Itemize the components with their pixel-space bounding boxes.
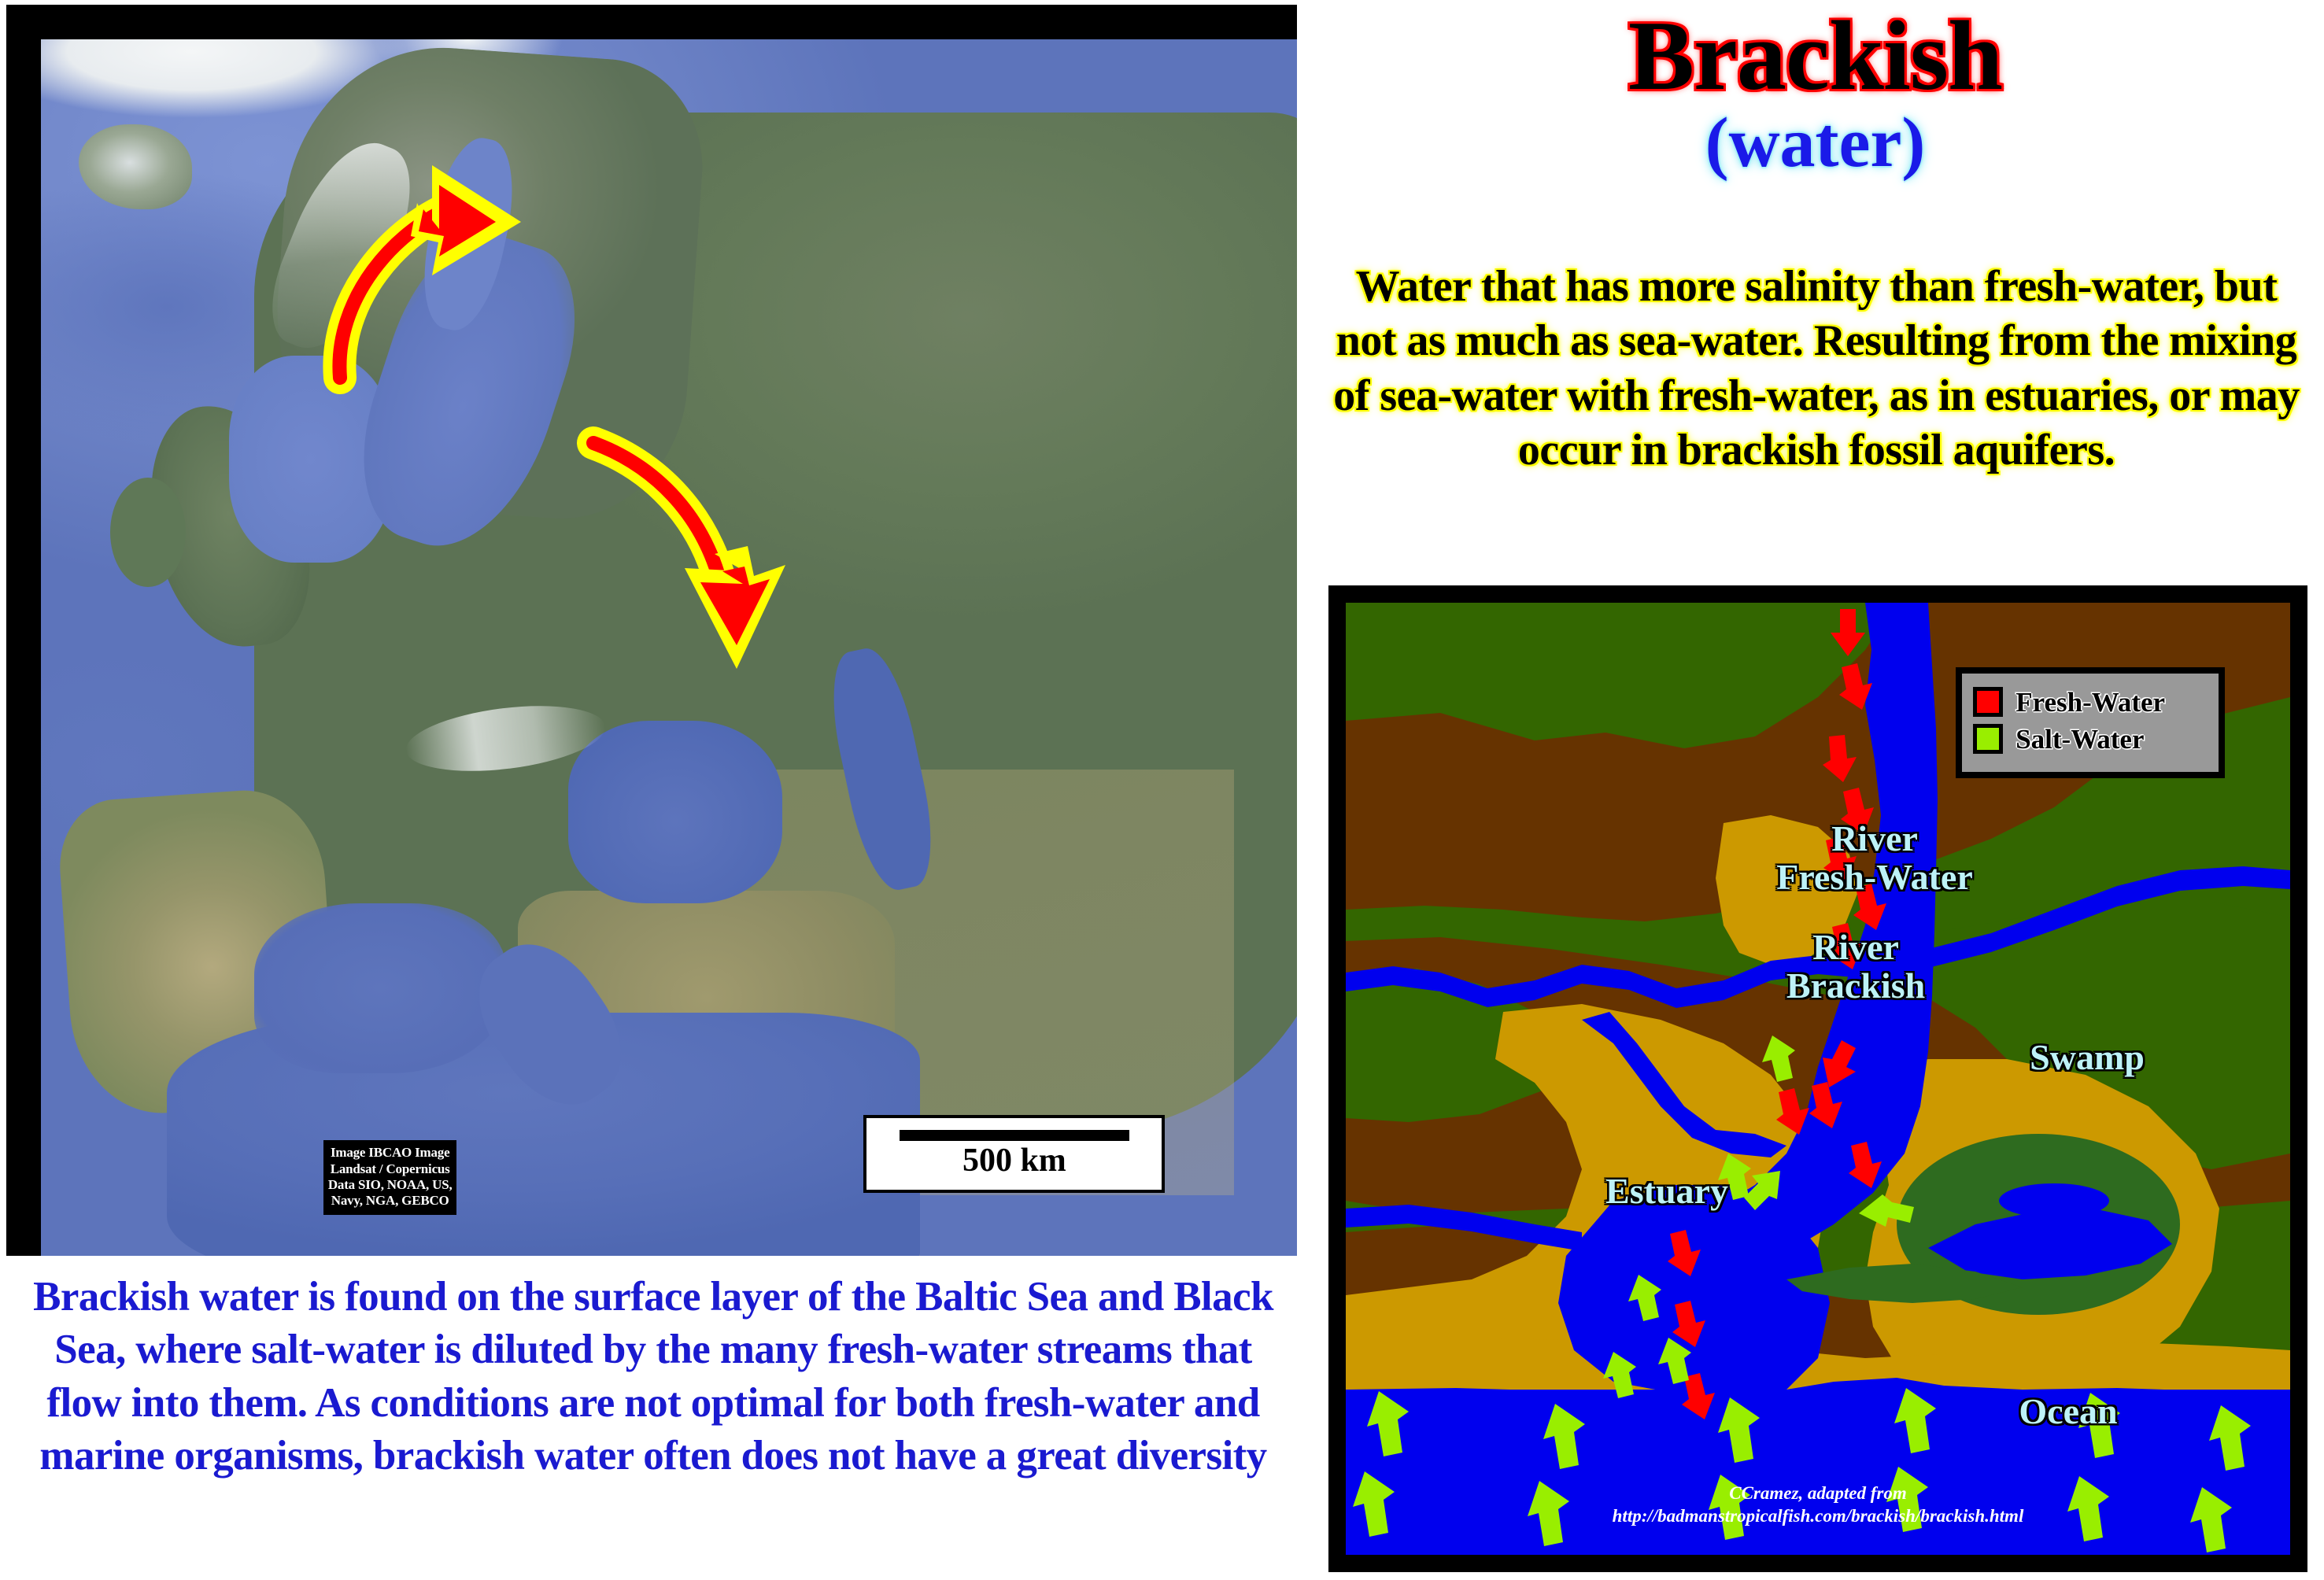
scale-bar-line (900, 1130, 1130, 1141)
content-column: Brackish (water) Water that has more sal… (1306, 0, 2324, 1580)
page-title: Brackish (1306, 5, 2324, 109)
legend-swatch-salt-water (1973, 724, 2003, 754)
diagram-attribution: CCramez, adapted from http://badmanstrop… (1478, 1482, 2158, 1528)
satellite-map-canvas: Image IBCAO Image Landsat / Copernicus D… (41, 39, 1297, 1256)
label-river-brackish: River Brackish (1705, 928, 2007, 1006)
page-subtitle: (water) (1306, 106, 2324, 181)
baltic-sea-arrow (339, 165, 521, 378)
legend-swatch-fresh-water (1973, 687, 2003, 717)
map-column: Image IBCAO Image Landsat / Copernicus D… (0, 0, 1306, 1580)
definition-text: Water that has more salinity than fresh-… (1328, 260, 2304, 478)
estuary-diagram-canvas: River Fresh-Water River Brackish Swamp E… (1346, 603, 2290, 1555)
legend-label-salt-water: Salt-Water (2015, 725, 2144, 753)
black-sea-arrow (593, 443, 785, 669)
swamp-water-2 (1999, 1183, 2109, 1218)
map-credits: Image IBCAO Image Landsat / Copernicus D… (323, 1140, 456, 1215)
label-river-fresh-water: River Fresh-Water (1714, 820, 2035, 897)
swamp-water-3 (2074, 1234, 2160, 1262)
estuary-diagram-panel: River Fresh-Water River Brackish Swamp E… (1328, 585, 2307, 1572)
label-ocean: Ocean (1955, 1393, 2182, 1431)
label-estuary: Estuary (1544, 1172, 1790, 1211)
label-swamp: Swamp (1964, 1039, 2210, 1077)
legend-item-fresh-water: Fresh-Water (1973, 687, 2211, 717)
satellite-map-panel: Image IBCAO Image Landsat / Copernicus D… (6, 5, 1297, 1256)
legend-label-fresh-water: Fresh-Water (2015, 688, 2165, 716)
map-caption: Brackish water is found on the surface l… (24, 1271, 1283, 1482)
legend-item-salt-water: Salt-Water (1973, 724, 2211, 754)
scale-bar: 500 km (863, 1115, 1165, 1193)
diagram-legend: Fresh-Water Salt-Water (1956, 667, 2225, 778)
map-arrow-overlay (41, 39, 1297, 1256)
scale-bar-label: 500 km (962, 1144, 1066, 1177)
